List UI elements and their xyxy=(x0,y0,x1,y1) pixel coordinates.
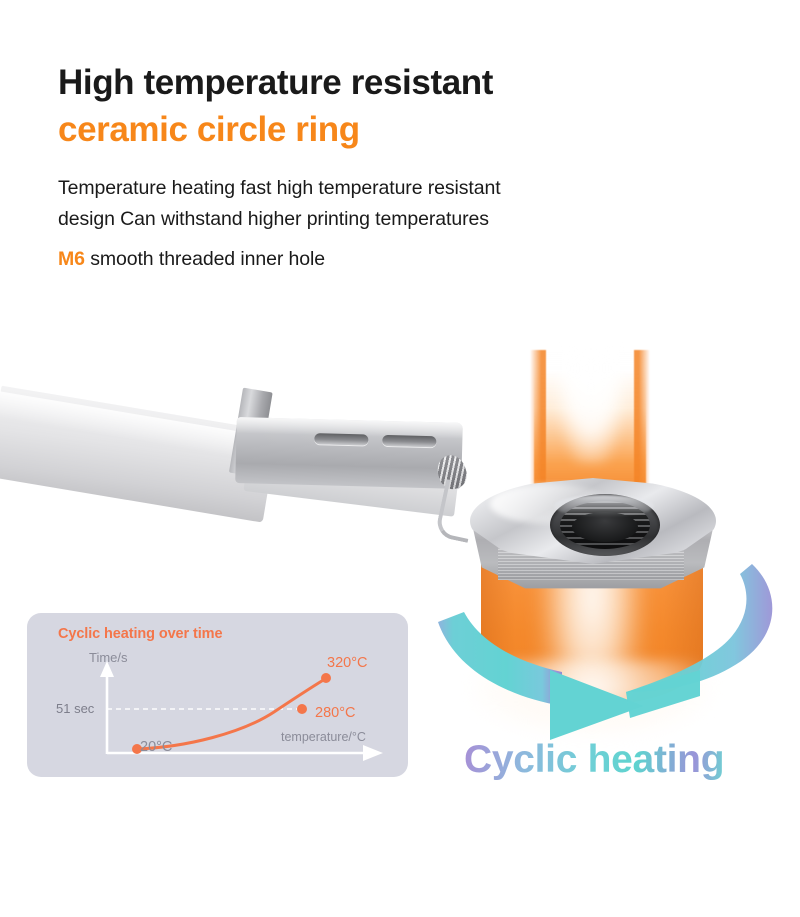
heat-glow-core xyxy=(556,344,626,464)
rotation-arrow-svg xyxy=(430,500,800,750)
mounting-bracket xyxy=(235,417,463,489)
bracket-slot-1 xyxy=(314,433,368,445)
chart-x-axis-arrow xyxy=(363,745,383,761)
chart-point-320c xyxy=(321,673,331,683)
product-caption: Cyclic heating xyxy=(464,738,724,782)
spec-rest: smooth threaded inner hole xyxy=(85,248,325,270)
chart-annotation-320c: 320°C xyxy=(327,655,367,671)
spec-highlight: M6 xyxy=(58,248,85,270)
arrow-front-band-right xyxy=(626,670,700,718)
chart-annotation-280c: 280°C xyxy=(315,705,355,721)
chart-plot xyxy=(27,613,408,777)
spec-line: M6 smooth threaded inner hole xyxy=(58,248,738,271)
description-text: Temperature heating fast high temperatur… xyxy=(58,173,678,235)
bracket-slot-2 xyxy=(382,435,436,447)
circular-rotation-arrow xyxy=(430,500,800,750)
chart-y-axis-arrow xyxy=(100,661,114,677)
chart-panel: Cyclic heating over time Time/s temperat… xyxy=(27,613,408,777)
chart-annotation-20c: 20°C xyxy=(140,739,172,755)
arrow-front-band-left xyxy=(438,612,562,706)
chart-point-280c xyxy=(297,704,307,714)
page-title: High temperature resistant xyxy=(58,62,738,105)
page-subtitle: ceramic circle ring xyxy=(58,109,738,152)
description-line-2: design Can withstand higher printing tem… xyxy=(58,204,678,235)
product-marketing-image: High temperature resistant ceramic circl… xyxy=(0,0,800,917)
description-line-1: Temperature heating fast high temperatur… xyxy=(58,173,678,204)
heading-block: High temperature resistant ceramic circl… xyxy=(58,62,738,271)
